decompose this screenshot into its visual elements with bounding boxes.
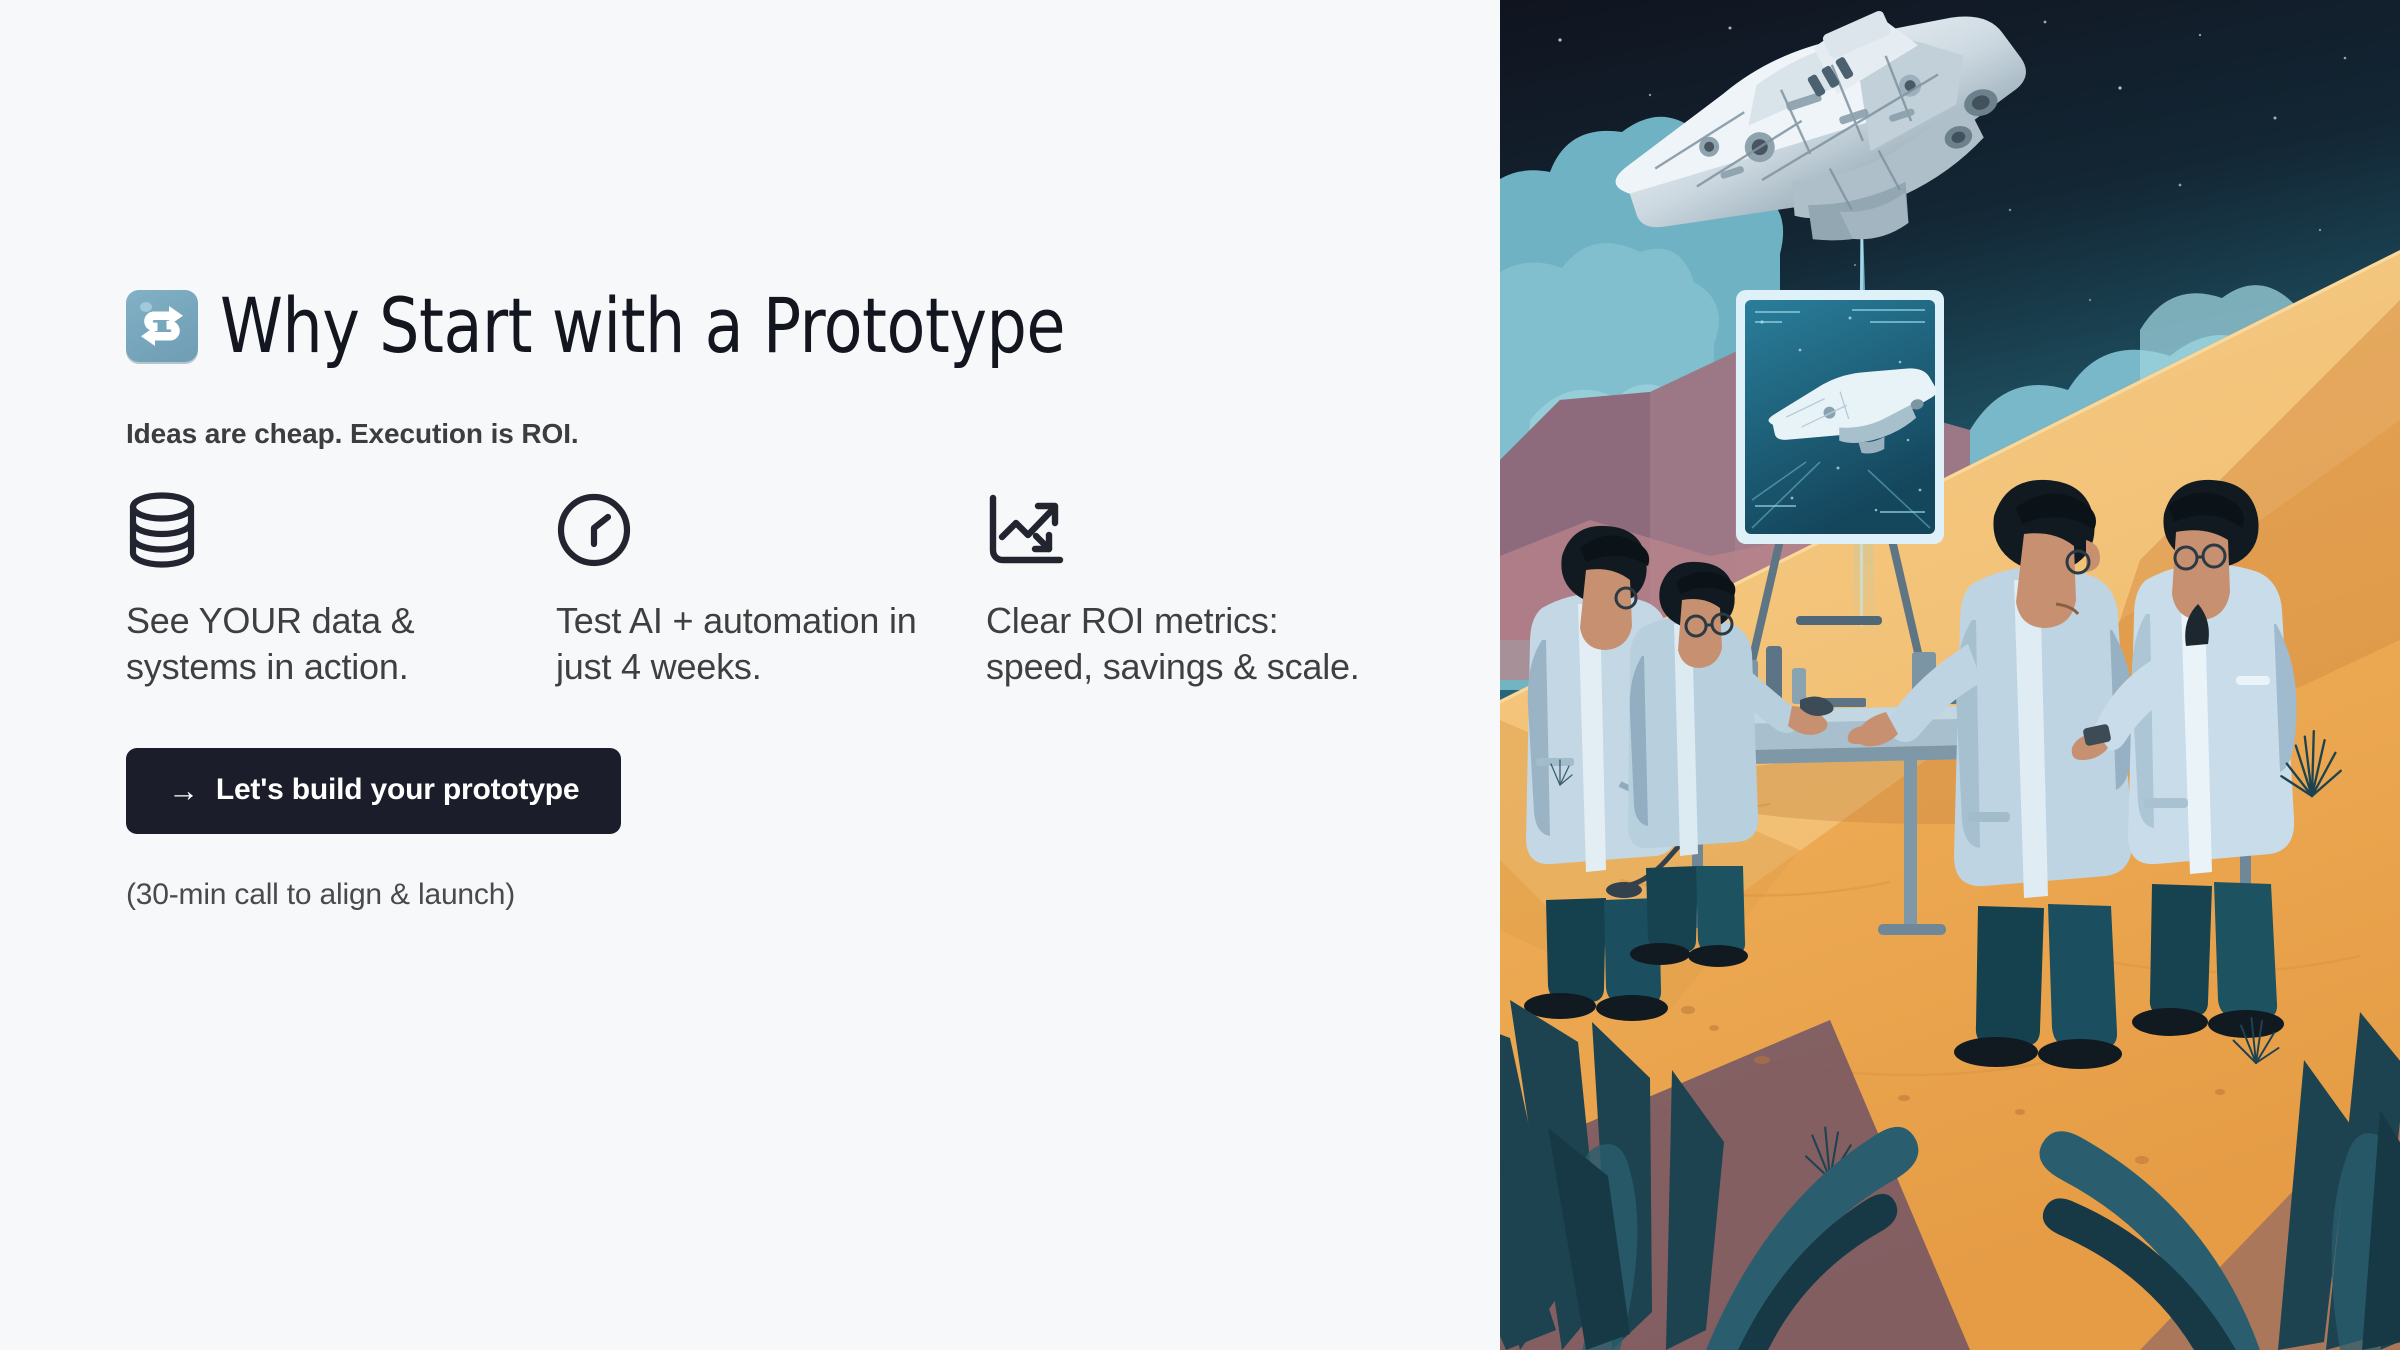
slide-root: Why Start with a Prototype Ideas are che… bbox=[0, 0, 2400, 1350]
feature-columns: See YOUR data & systems in action. Test … bbox=[126, 492, 1426, 690]
chart-trend-icon bbox=[986, 492, 1416, 572]
page-title: Why Start with a Prototype bbox=[220, 288, 1065, 364]
illustration-svg bbox=[1500, 0, 2400, 1350]
clock-icon bbox=[556, 492, 986, 572]
feature-text-roi: Clear ROI metrics: speed, savings & scal… bbox=[986, 598, 1366, 690]
subtitle: Ideas are cheap. Execution is ROI. bbox=[126, 418, 1426, 450]
feature-column-data: See YOUR data & systems in action. bbox=[126, 492, 556, 690]
page-title-row: Why Start with a Prototype bbox=[126, 288, 1426, 364]
content-block: Why Start with a Prototype Ideas are che… bbox=[126, 288, 1426, 912]
arrow-right-icon: → bbox=[168, 775, 199, 806]
cta-footnote: (30-min call to align & launch) bbox=[126, 878, 1426, 912]
left-content-panel: Why Start with a Prototype Ideas are che… bbox=[0, 0, 1500, 1350]
feature-column-roi: Clear ROI metrics: speed, savings & scal… bbox=[986, 492, 1416, 690]
cta-label: Let's build your prototype bbox=[216, 773, 580, 807]
database-icon bbox=[126, 492, 556, 572]
feature-text-data: See YOUR data & systems in action. bbox=[126, 598, 506, 690]
repeat-cycle-icon bbox=[126, 290, 198, 362]
feature-text-speed: Test AI + automation in just 4 weeks. bbox=[556, 598, 936, 690]
cta-build-prototype-button[interactable]: → Let's build your prototype bbox=[126, 748, 621, 834]
desert-scientists-spaceship-illustration bbox=[1500, 0, 2400, 1350]
feature-column-speed: Test AI + automation in just 4 weeks. bbox=[556, 492, 986, 690]
